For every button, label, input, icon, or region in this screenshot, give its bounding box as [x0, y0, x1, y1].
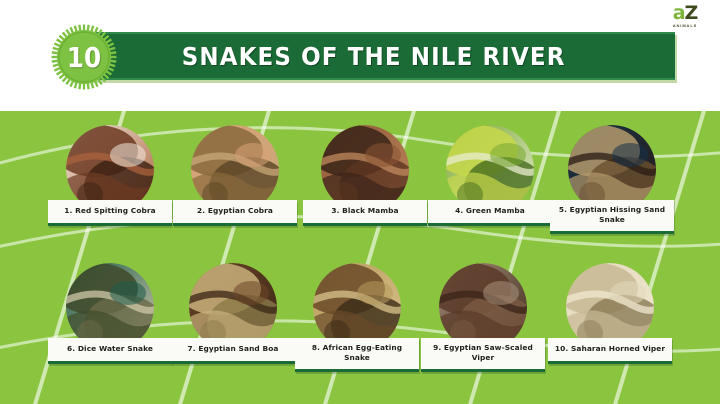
az-animals-logo[interactable]: aZ ANIMALS [664, 4, 706, 30]
snake-label-plate: 3. Black Mamba [303, 200, 427, 226]
snake-label-plate: 1. Red Spitting Cobra [48, 200, 172, 226]
snake-label: 1. Red Spitting Cobra [64, 206, 155, 216]
logo-wordmark: aZ [673, 4, 698, 23]
snake-label: 9. Egyptian Saw-Scaled Viper [426, 343, 540, 363]
snake-label: 5. Egyptian Hissing Sand Snake [555, 205, 669, 225]
content-area: 1. Red Spitting Cobra2. Egyptian Cobra3.… [0, 111, 720, 404]
header: aZ ANIMALS SNAKES OF THE NILE RIVER 10 [0, 0, 720, 111]
snake-label: 3. Black Mamba [331, 206, 398, 216]
title-banner: SNAKES OF THE NILE RIVER [72, 32, 675, 80]
snake-label-plate: 8. African Egg-Eating Snake [295, 338, 419, 372]
snake-label-plate: 2. Egyptian Cobra [173, 200, 297, 226]
logo-subtitle: ANIMALS [673, 24, 698, 28]
snake-label: 6. Dice Water Snake [67, 344, 153, 354]
snake-label: 8. African Egg-Eating Snake [300, 343, 414, 363]
snake-label: 4. Green Mamba [455, 206, 525, 216]
badge-number: 10 [55, 24, 113, 90]
snake-label-plate: 7. Egyptian Sand Boa [171, 338, 295, 364]
infographic-root: aZ ANIMALS SNAKES OF THE NILE RIVER 10 [0, 0, 720, 404]
snake-label-plate: 6. Dice Water Snake [48, 338, 172, 364]
page-title: SNAKES OF THE NILE RIVER [182, 42, 566, 71]
snake-label-plate: 10. Saharan Horned Viper [548, 338, 672, 364]
snake-label: 2. Egyptian Cobra [197, 206, 273, 216]
snake-label-plate: 9. Egyptian Saw-Scaled Viper [421, 338, 545, 372]
snake-label-plate: 4. Green Mamba [428, 200, 552, 226]
snake-label: 10. Saharan Horned Viper [555, 344, 665, 354]
logo-letter-a: a [673, 2, 685, 24]
snake-label: 7. Egyptian Sand Boa [188, 344, 279, 354]
count-badge: 10 [51, 24, 117, 90]
snake-label-plate: 5. Egyptian Hissing Sand Snake [550, 200, 674, 234]
logo-letter-z: Z [685, 2, 698, 24]
